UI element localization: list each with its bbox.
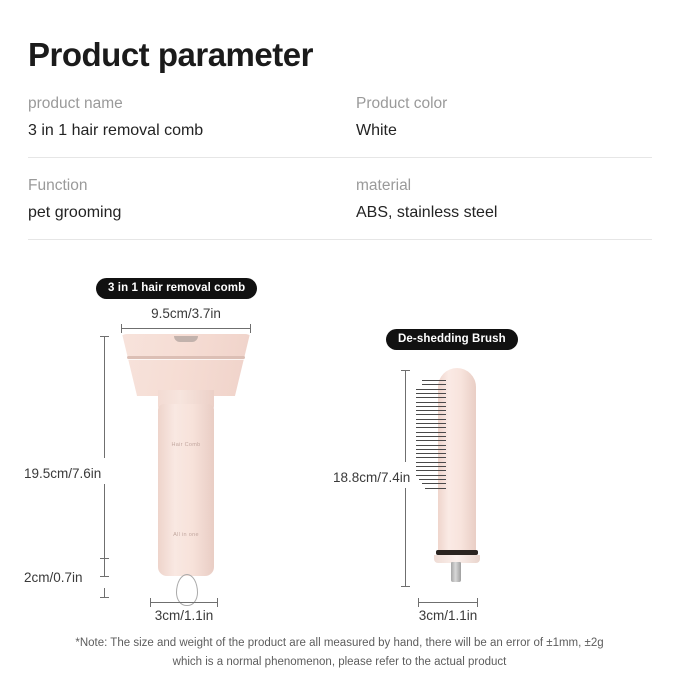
brush-illustration (416, 368, 496, 588)
spec-row: Function pet grooming material ABS, stai… (28, 174, 652, 240)
brush-base-width-rule (418, 602, 478, 603)
comb-height-cap-bottom (100, 576, 109, 577)
footnote-line-1: *Note: The size and weight of the produc… (0, 634, 679, 653)
row-divider (28, 239, 652, 240)
spec-table: product name 3 in 1 hair removal comb Pr… (28, 92, 652, 240)
footnote: *Note: The size and weight of the produc… (0, 634, 679, 672)
spec-value: 3 in 1 hair removal comb (28, 119, 340, 144)
spec-cell-function: Function pet grooming (28, 174, 340, 226)
footnote-line-2: which is a normal phenomenon, please ref… (0, 653, 679, 672)
brush-tooth (416, 462, 446, 463)
brush-tooth (416, 393, 446, 394)
brush-tooth (416, 397, 446, 398)
product-parameter-page: Product parameter product name 3 in 1 ha… (0, 0, 679, 679)
brush-metal-pin (451, 562, 461, 582)
brush-tooth (422, 384, 446, 385)
brush-tooth (425, 488, 446, 489)
brush-base-width-label: 3cm/1.1in (404, 608, 492, 623)
brush-tooth (416, 445, 446, 446)
brush-height-cap-top (401, 370, 410, 371)
comb-width-label: 9.5cm/3.7in (118, 306, 254, 321)
brush-height-cap-bottom (401, 586, 410, 587)
badge-de-shedding-brush: De-shedding Brush (386, 329, 518, 350)
comb-blade-slot (127, 356, 245, 359)
spec-label: product name (28, 92, 340, 115)
brush-tooth (416, 419, 446, 420)
comb-hook-label: 2cm/0.7in (24, 570, 83, 585)
brush-height-rule-lower (405, 488, 406, 586)
spec-row: product name 3 in 1 hair removal comb Pr… (28, 92, 652, 158)
brush-comb-teeth (416, 380, 446, 492)
spec-value: pet grooming (28, 201, 340, 226)
comb-head (118, 334, 254, 396)
comb-height-label: 19.5cm/7.6in (24, 466, 101, 481)
comb-width-rule (121, 328, 251, 329)
brush-tooth (416, 470, 446, 471)
spec-cell-product-name: product name 3 in 1 hair removal comb (28, 92, 340, 144)
comb-hook-cap-bottom (100, 597, 109, 598)
brush-tooth (422, 483, 446, 484)
brush-tooth (416, 475, 446, 476)
comb-handle-text-bottom: All in one (158, 532, 214, 538)
spec-label: Product color (356, 92, 652, 115)
brush-tooth (422, 380, 446, 381)
brush-height-rule-upper (405, 370, 406, 462)
comb-power-button-icon (174, 336, 198, 342)
spec-label: Function (28, 174, 340, 197)
brush-tooth (416, 389, 446, 390)
comb-handle (158, 404, 214, 576)
comb-illustration: Hair Comb All in one (118, 334, 254, 594)
comb-base-width-label: 3cm/1.1in (140, 608, 228, 623)
brush-tooth (416, 406, 446, 407)
comb-height-cap-top (100, 336, 109, 337)
comb-base-width-rule (150, 602, 218, 603)
brush-tooth (416, 466, 446, 467)
brush-tooth (416, 427, 446, 428)
page-title: Product parameter (28, 36, 313, 74)
brush-tooth (416, 436, 446, 437)
spec-label: material (356, 174, 652, 197)
spec-cell-product-color: Product color White (340, 92, 652, 144)
comb-hook-cap-top (100, 558, 109, 559)
spec-value: ABS, stainless steel (356, 201, 652, 226)
brush-tooth (416, 414, 446, 415)
comb-hook-rule-upper (104, 558, 105, 568)
brush-tooth (416, 449, 446, 450)
brush-tooth (416, 440, 446, 441)
brush-tooth (416, 453, 446, 454)
spec-cell-material: material ABS, stainless steel (340, 174, 652, 226)
brush-height-label: 18.8cm/7.4in (333, 470, 410, 485)
spec-value: White (356, 119, 652, 144)
brush-tooth (416, 432, 446, 433)
brush-tooth (419, 479, 446, 480)
brush-tooth (416, 423, 446, 424)
brush-tooth (416, 402, 446, 403)
brush-tooth (416, 457, 446, 458)
comb-height-rule-upper (104, 336, 105, 458)
row-divider (28, 157, 652, 158)
product-diagram: 3 in 1 hair removal comb De-shedding Bru… (0, 258, 679, 628)
brush-tooth (416, 410, 446, 411)
comb-handle-text-top: Hair Comb (158, 442, 214, 448)
badge-hair-removal-comb: 3 in 1 hair removal comb (96, 278, 257, 299)
